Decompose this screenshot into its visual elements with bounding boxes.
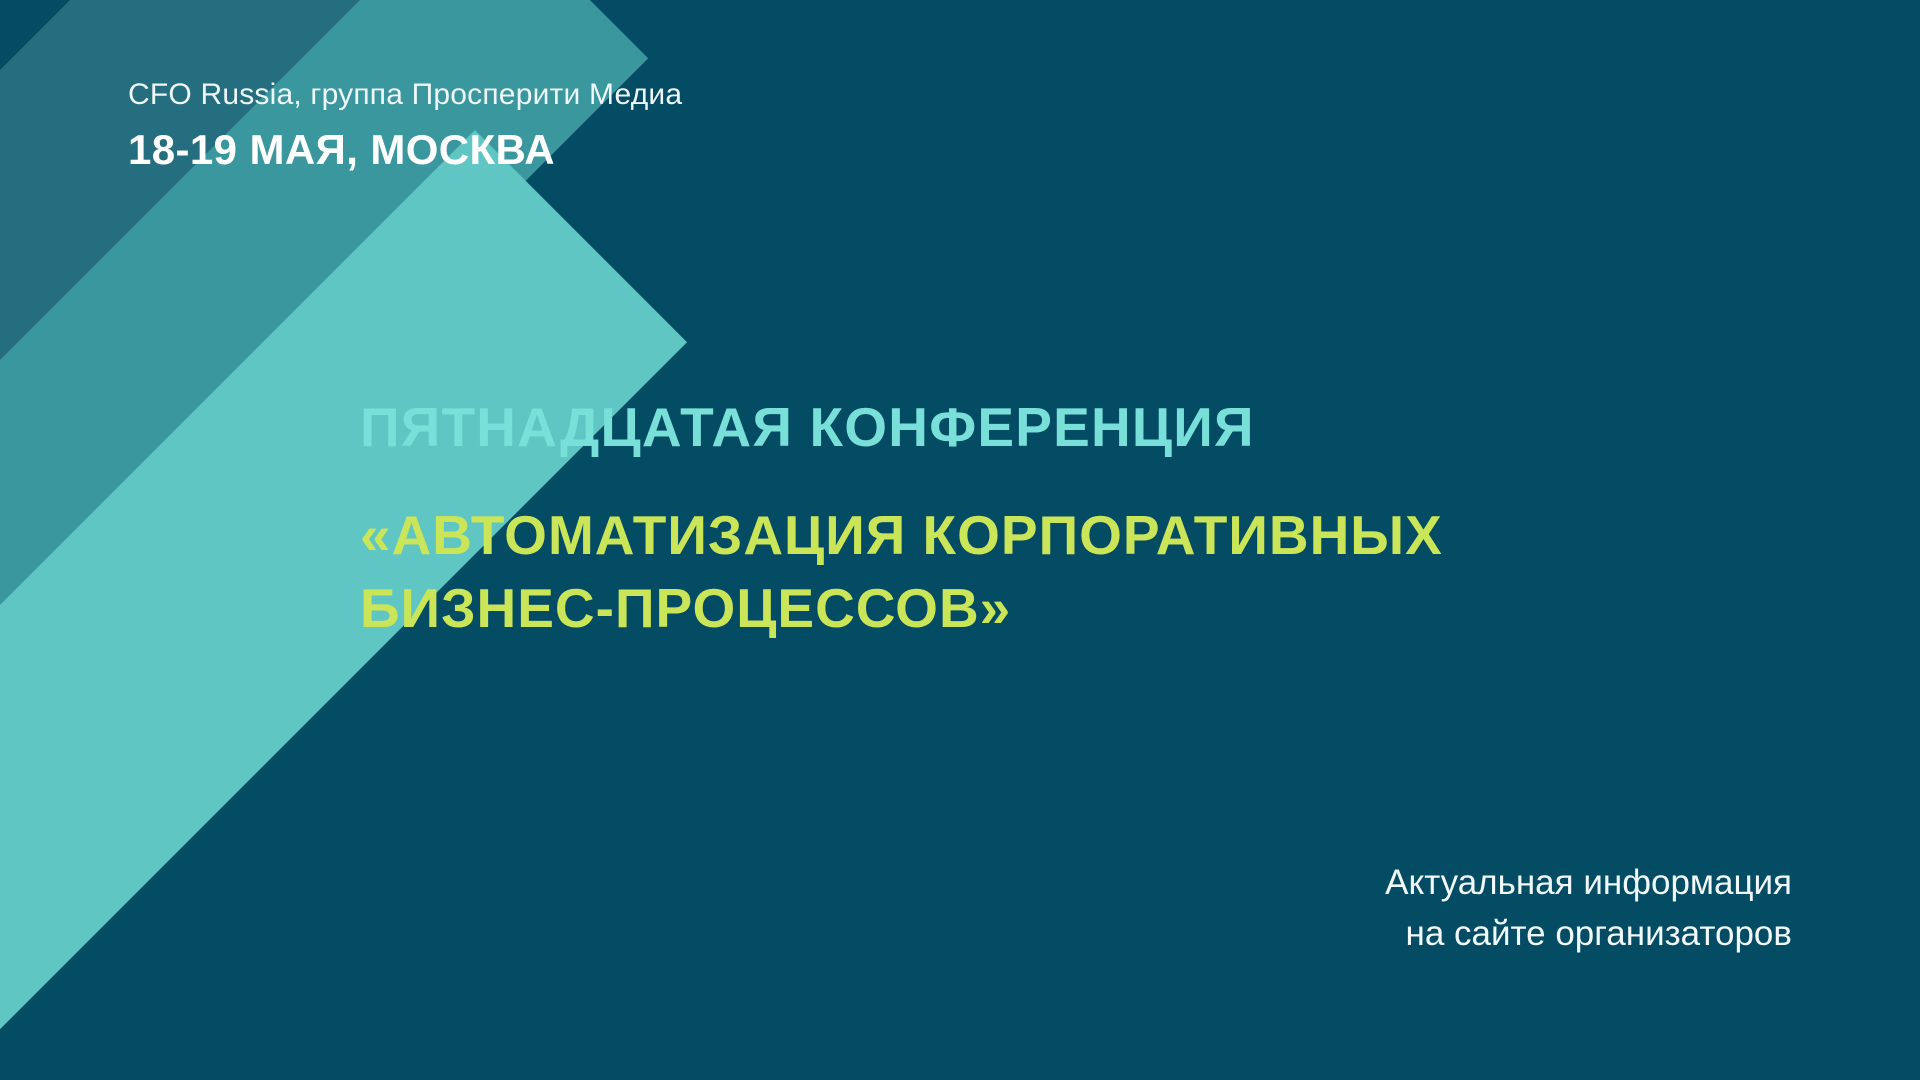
organizer-line: CFO Russia, группа Просперити Медиа bbox=[128, 78, 682, 112]
footnote-block: Актуальная информация на сайте организат… bbox=[1385, 858, 1792, 960]
date-location-line: 18-19 МАЯ, МОСКВА bbox=[128, 126, 555, 174]
conference-name-line-2: БИЗНЕС-ПРОЦЕССОВ» bbox=[360, 572, 1790, 645]
footnote-line-2: на сайте организаторов bbox=[1385, 909, 1792, 960]
title-block: ПЯТНАДЦАТАЯ КОНФЕРЕНЦИЯ «АВТОМАТИЗАЦИЯ К… bbox=[360, 400, 1790, 644]
footnote-line-1: Актуальная информация bbox=[1385, 858, 1792, 909]
conference-name-line-1: «АВТОМАТИЗАЦИЯ КОРПОРАТИВНЫХ bbox=[360, 499, 1790, 572]
conference-ordinal-line: ПЯТНАДЦАТАЯ КОНФЕРЕНЦИЯ bbox=[360, 400, 1790, 455]
presentation-slide: CFO Russia, группа Просперити Медиа 18-1… bbox=[0, 0, 1920, 1080]
